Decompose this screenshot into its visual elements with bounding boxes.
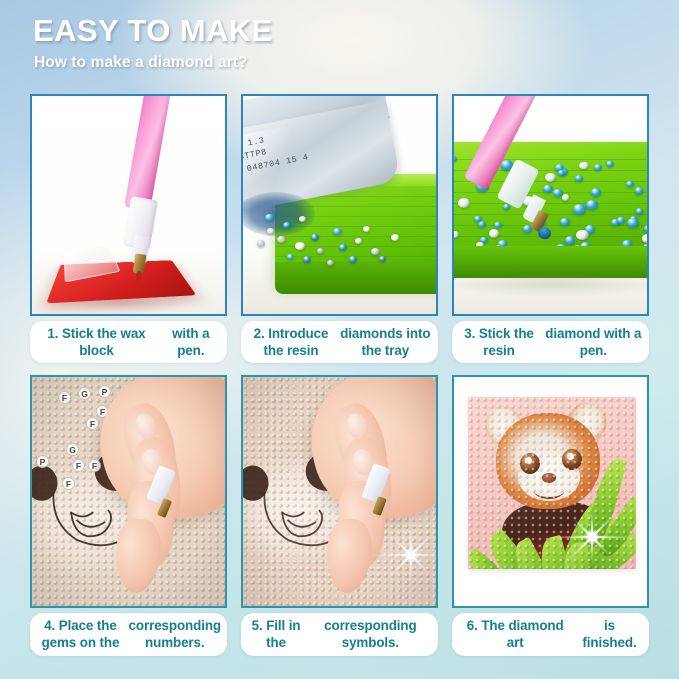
step-caption-5-line1: 5. Fill in the xyxy=(247,617,305,651)
resin-diamond xyxy=(257,240,265,247)
step-image-6-content xyxy=(454,377,647,606)
resin-diamond xyxy=(579,162,588,170)
resin-diamond xyxy=(591,188,601,197)
step-image-1 xyxy=(30,94,227,316)
resin-diamond xyxy=(545,173,556,182)
step-image-5 xyxy=(241,375,438,608)
resin-diamond xyxy=(503,204,510,210)
page-header: EASY TO MAKE How to make a diamond art? xyxy=(33,14,273,72)
step-card-4: FGPFFGFFGPF 4. Place the gems on the cor… xyxy=(30,375,227,655)
resin-diamond xyxy=(299,216,306,222)
tray-front-face xyxy=(275,262,436,294)
resin-diamond xyxy=(586,200,597,210)
steps-grid: 1. Stick the wax block with a pen. 239 1… xyxy=(30,94,649,656)
photo-vignette xyxy=(32,377,225,606)
step-image-1-content xyxy=(32,96,225,314)
resin-diamond xyxy=(573,204,586,215)
resin-diamond xyxy=(494,222,502,229)
resin-diamond xyxy=(287,254,294,260)
resin-diamond xyxy=(617,217,625,223)
resin-diamond xyxy=(562,194,569,200)
step-card-3: 3. Stick the resin diamond with a pen. xyxy=(452,94,649,363)
step-caption-3-line2: diamond with a pen. xyxy=(544,325,643,359)
finished-artwork xyxy=(468,397,636,569)
tray-groove xyxy=(454,203,647,204)
page-title: EASY TO MAKE xyxy=(33,14,273,47)
step-caption-3: 3. Stick the resin diamond with a pen. xyxy=(452,321,649,363)
step-caption-3-line1: 3. Stick the resin xyxy=(458,325,540,359)
step-image-5-content xyxy=(243,377,436,606)
resin-diamond xyxy=(560,218,570,227)
step-caption-1: 1. Stick the wax block with a pen. xyxy=(30,321,227,363)
step-image-2: 239 1.3 SNATTP8 16 048704 15 4 xyxy=(241,94,438,316)
tray-shadow xyxy=(454,272,647,296)
resin-diamond xyxy=(626,181,634,187)
step-caption-2-line2: diamonds into the tray xyxy=(339,325,432,359)
resin-diamond xyxy=(317,248,324,254)
resin-diamond xyxy=(339,244,347,251)
resin-diamond xyxy=(379,256,386,262)
resin-diamond xyxy=(635,187,644,194)
step-caption-4: 4. Place the gems on the corresponding n… xyxy=(30,613,227,655)
resin-diamond xyxy=(575,175,584,182)
step-card-5: 5. Fill in the corresponding symbols. xyxy=(241,375,438,655)
photo-vignette xyxy=(243,377,436,606)
step-image-2-content: 239 1.3 SNATTP8 16 048704 15 4 xyxy=(243,96,436,314)
step-caption-4-line1: 4. Place the gems on the xyxy=(36,617,125,651)
resin-diamond xyxy=(636,208,644,214)
step-image-4-content: FGPFFGFFGPF xyxy=(32,377,225,606)
resin-diamond xyxy=(349,256,357,263)
step-image-3-content xyxy=(454,96,647,314)
resin-diamond xyxy=(489,229,499,238)
resin-diamond xyxy=(267,228,274,234)
page-subtitle: How to make a diamond art? xyxy=(34,54,273,72)
step-card-2: 239 1.3 SNATTP8 16 048704 15 4 2. Introd… xyxy=(241,94,438,363)
resin-diamond xyxy=(355,238,362,244)
resin-diamond xyxy=(553,189,562,197)
step-caption-6-line1: 6. The diamond art xyxy=(458,617,572,651)
resin-diamond xyxy=(327,260,334,266)
resin-diamond xyxy=(303,256,311,263)
step-image-3 xyxy=(452,94,649,316)
step-caption-6-line2: is finished. xyxy=(576,617,643,651)
tray-groove xyxy=(454,214,647,215)
resin-diamond xyxy=(311,234,319,241)
resin-diamond xyxy=(644,225,647,233)
step-caption-2-line1: 2. Introduce the resin xyxy=(247,325,335,359)
step-image-4: FGPFFGFFGPF xyxy=(30,375,227,608)
tray-groove xyxy=(275,236,436,237)
rhinestone-dot-texture xyxy=(468,397,636,569)
resin-diamond xyxy=(283,222,291,229)
step-caption-6: 6. The diamond art is finished. xyxy=(452,613,649,655)
step-caption-5: 5. Fill in the corresponding symbols. xyxy=(241,613,438,655)
step-caption-1-line1: 1. Stick the wax block xyxy=(36,325,157,359)
step-image-6 xyxy=(452,375,649,608)
step-caption-5-line2: corresponding symbols. xyxy=(309,617,432,651)
resin-diamond xyxy=(391,234,399,241)
resin-diamond xyxy=(565,236,576,245)
step-card-1: 1. Stick the wax block with a pen. xyxy=(30,94,227,363)
step-caption-1-line2: with a pen. xyxy=(161,325,221,359)
resin-diamond xyxy=(543,185,553,194)
step-caption-4-line2: corresponding numbers. xyxy=(129,617,221,651)
resin-diamond xyxy=(363,226,370,232)
step-caption-2: 2. Introduce the resin diamonds into the… xyxy=(241,321,438,363)
step-card-6: 6. The diamond art is finished. xyxy=(452,375,649,655)
